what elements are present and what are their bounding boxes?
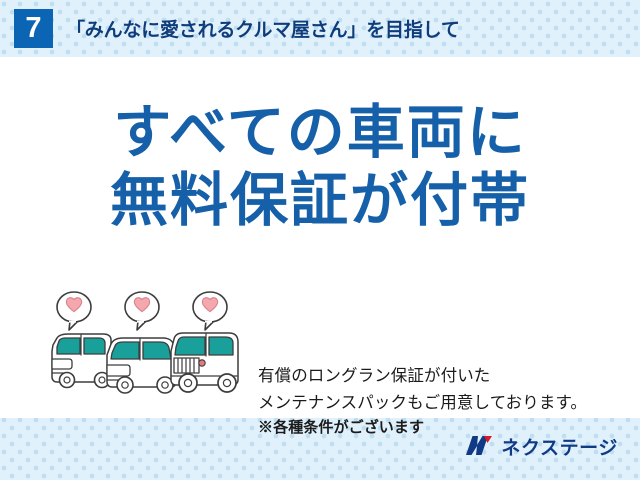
headline-line-1: すべての車両に <box>0 99 640 167</box>
headline: すべての車両に 無料保証が付帯 <box>0 99 640 236</box>
cars-illustration <box>47 285 252 400</box>
brand-name: ネクステージ <box>501 433 618 460</box>
headline-line-2: 無料保証が付帯 <box>0 167 640 235</box>
content-panel: すべての車両に 無料保証が付帯 <box>0 57 640 418</box>
banner-footer: ネクステージ <box>0 418 640 480</box>
promo-banner: 7 「みんなに愛されるクルマ屋さん」を目指して すべての車両に 無料保証が付帯 <box>0 0 640 480</box>
car-minivan <box>107 338 176 393</box>
heart-speech-bubble-3 <box>193 292 227 330</box>
header-title: 「みんなに愛されるクルマ屋さん」を目指して <box>66 15 460 42</box>
banner-header: 7 「みんなに愛されるクルマ屋さん」を目指して <box>0 0 640 57</box>
heart-speech-bubble-1 <box>57 292 91 330</box>
lower-content-row: 有償のロングラン保証が付いた メンテナンスパックもご用意しております。 ※各種条… <box>0 285 640 415</box>
nextage-n-mark-icon <box>464 434 494 458</box>
car-suv <box>171 333 238 392</box>
car-wagon <box>52 334 111 388</box>
brand-logo: ネクステージ <box>464 433 618 459</box>
description-line-2: メンテナンスパックもご用意しております。 <box>258 390 630 417</box>
heart-speech-bubble-2 <box>125 292 159 330</box>
step-number-badge: 7 <box>14 9 53 48</box>
description-line-1: 有償のロングラン保証が付いた <box>258 363 630 390</box>
